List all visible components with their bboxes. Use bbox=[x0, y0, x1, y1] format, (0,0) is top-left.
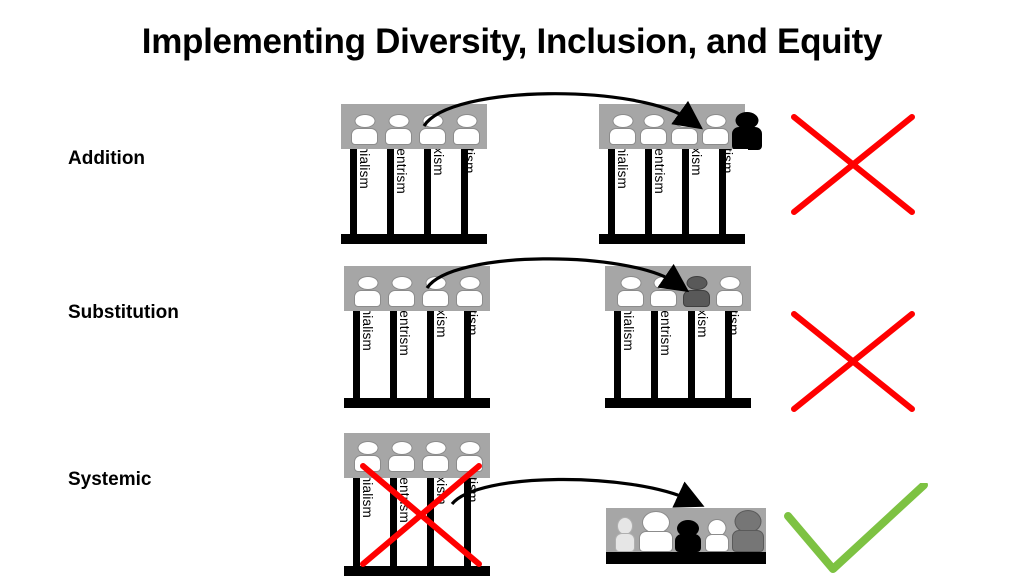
row-label-addition: Addition bbox=[68, 148, 145, 170]
figure-body bbox=[702, 128, 729, 145]
figure-head bbox=[391, 276, 412, 290]
pillar-label-sexism: Sexism bbox=[434, 478, 449, 505]
figure-white bbox=[422, 276, 449, 307]
figure-body bbox=[354, 290, 381, 307]
row-label-substitution: Substitution bbox=[68, 302, 179, 324]
pillar-bay: Colonialism bbox=[615, 149, 645, 234]
pillar-post bbox=[464, 478, 471, 566]
pillar-post bbox=[350, 149, 357, 234]
pillar-post bbox=[682, 149, 689, 234]
figure-white bbox=[456, 441, 483, 472]
pillar-bay: Sexism bbox=[431, 149, 461, 234]
pillar-label-sexism: Sexism bbox=[431, 149, 446, 176]
figure-body bbox=[615, 533, 635, 552]
pillar-post bbox=[719, 149, 726, 234]
pillar-label-colonialism: Colonialism bbox=[357, 149, 372, 189]
figure-head bbox=[643, 114, 664, 128]
pillar-post bbox=[353, 478, 360, 566]
figure-white bbox=[671, 114, 698, 145]
figure-head bbox=[388, 114, 409, 128]
figure-head bbox=[422, 114, 443, 128]
pillar-label-sexism: Sexism bbox=[689, 149, 704, 176]
figure-body bbox=[456, 290, 483, 307]
structure-base bbox=[344, 398, 490, 408]
figure-body bbox=[351, 128, 378, 145]
pillar-label-eurocentrism: Eurocentrism bbox=[652, 149, 667, 194]
pillar-post bbox=[608, 149, 615, 234]
addition-after-structure: Colonialism Eurocentrism Sexism Elitism bbox=[599, 104, 745, 244]
figure-body bbox=[732, 127, 762, 150]
figure-head bbox=[425, 276, 446, 290]
pillar-post bbox=[725, 311, 732, 398]
pillar-post bbox=[387, 149, 394, 234]
pillar-post bbox=[353, 311, 360, 398]
structure-base bbox=[344, 566, 490, 576]
pillar-group: Colonialism Eurocentrism Sexism Elitism bbox=[344, 478, 490, 566]
figure-white bbox=[650, 276, 677, 307]
figure-white bbox=[354, 441, 381, 472]
pillar-group: Colonialism Eurocentrism Sexism Elitism bbox=[599, 149, 745, 234]
figure-head bbox=[653, 276, 674, 290]
verdict-substitution bbox=[789, 309, 917, 414]
figure-body bbox=[385, 128, 412, 145]
pillar-bay: Eurocentrism bbox=[397, 478, 427, 566]
figure-body bbox=[422, 290, 449, 307]
figure-head bbox=[357, 441, 378, 455]
row-label-systemic: Systemic bbox=[68, 469, 151, 491]
figure-white bbox=[385, 114, 412, 145]
figure-body bbox=[388, 455, 415, 472]
pillar-post bbox=[651, 311, 658, 398]
figure-black bbox=[675, 520, 701, 552]
figure-head bbox=[459, 276, 480, 290]
pillar-label-colonialism: Colonialism bbox=[615, 149, 630, 189]
pillar-bay: Eurocentrism bbox=[397, 311, 427, 398]
verdict-addition bbox=[789, 112, 917, 217]
pillar-post bbox=[427, 478, 434, 566]
pillar-bay: Sexism bbox=[434, 311, 464, 398]
pillar-post bbox=[461, 149, 468, 234]
figure-body bbox=[640, 128, 667, 145]
figure-white bbox=[354, 276, 381, 307]
red-x-icon bbox=[789, 309, 917, 414]
figure-white bbox=[388, 276, 415, 307]
pillar-post bbox=[688, 311, 695, 398]
figure-body bbox=[675, 534, 701, 552]
figure-head bbox=[357, 276, 378, 290]
pillar-label-sexism: Sexism bbox=[434, 311, 449, 338]
red-x-icon bbox=[789, 112, 917, 217]
pillar-post bbox=[390, 311, 397, 398]
pillar-bay: Colonialism bbox=[360, 311, 390, 398]
pillar-bay: Colonialism bbox=[357, 149, 387, 234]
pillar-group: Colonialism Eurocentrism Sexism Elitism bbox=[341, 149, 487, 234]
addition-before-structure: Colonialism Eurocentrism Sexism Elitism bbox=[341, 104, 487, 244]
pillar-post bbox=[427, 311, 434, 398]
pillar-bay: Colonialism bbox=[360, 478, 390, 566]
figure-body bbox=[422, 455, 449, 472]
figure-body bbox=[354, 455, 381, 472]
figure-head bbox=[354, 114, 375, 128]
pillar-post bbox=[464, 311, 471, 398]
slide-canvas: Implementing Diversity, Inclusion, and E… bbox=[0, 0, 1024, 576]
figure-white bbox=[456, 276, 483, 307]
figure-head bbox=[425, 441, 446, 455]
figure-body bbox=[650, 290, 677, 307]
pillar-post bbox=[645, 149, 652, 234]
figure-body bbox=[453, 128, 480, 145]
figure-body bbox=[705, 534, 729, 552]
substitution-after-structure: Colonialism Eurocentrism Sexism Elitism bbox=[605, 266, 751, 408]
pillar-post bbox=[424, 149, 431, 234]
structure-base bbox=[341, 234, 487, 244]
pillar-label-colonialism: Colonialism bbox=[621, 311, 636, 351]
pillar-group: Colonialism Eurocentrism Sexism Elitism bbox=[344, 311, 490, 398]
figure-body bbox=[732, 530, 764, 552]
figure-white bbox=[351, 114, 378, 145]
figure-body bbox=[683, 290, 710, 307]
figure-body bbox=[388, 290, 415, 307]
figure-white bbox=[617, 276, 644, 307]
structure-base bbox=[599, 234, 745, 244]
pillar-label-colonialism: Colonialism bbox=[360, 478, 375, 518]
page-title: Implementing Diversity, Inclusion, and E… bbox=[0, 22, 1024, 62]
pillar-bay: Eurocentrism bbox=[658, 311, 688, 398]
figure-head bbox=[719, 276, 740, 290]
figure-white bbox=[453, 114, 480, 145]
figure-white-large bbox=[639, 511, 673, 552]
figure-head bbox=[686, 276, 707, 290]
pillar-bay: Sexism bbox=[689, 149, 719, 234]
figure-white bbox=[422, 441, 449, 472]
figure-head bbox=[674, 114, 695, 128]
pillar-bay: Sexism bbox=[434, 478, 464, 566]
pillar-bay: Sexism bbox=[695, 311, 725, 398]
pillar-bay: Colonialism bbox=[621, 311, 651, 398]
figure-body bbox=[617, 290, 644, 307]
figure-head bbox=[620, 276, 641, 290]
pillar-label-eurocentrism: Eurocentrism bbox=[397, 478, 412, 523]
figure-head bbox=[612, 114, 633, 128]
figure-body bbox=[419, 128, 446, 145]
figure-head bbox=[391, 441, 412, 455]
figure-white bbox=[702, 114, 729, 145]
green-check-icon bbox=[783, 483, 929, 575]
figure-white bbox=[609, 114, 636, 145]
figure-body bbox=[671, 128, 698, 145]
figure-white bbox=[419, 114, 446, 145]
pillar-label-eurocentrism: Eurocentrism bbox=[397, 311, 412, 356]
figure-body bbox=[639, 531, 673, 552]
pillar-label-eurocentrism: Eurocentrism bbox=[394, 149, 409, 194]
substitution-before-structure: Colonialism Eurocentrism Sexism Elitism bbox=[344, 266, 490, 408]
pillar-group: Colonialism Eurocentrism Sexism Elitism bbox=[605, 311, 751, 398]
figure-white bbox=[716, 276, 743, 307]
pillar-post bbox=[614, 311, 621, 398]
systemic-before-structure: Colonialism Eurocentrism Sexism Elitism bbox=[344, 433, 490, 576]
systemic-after-ground-platform bbox=[606, 508, 766, 564]
figure-body bbox=[609, 128, 636, 145]
figure-white bbox=[640, 114, 667, 145]
structure-base bbox=[605, 398, 751, 408]
figure-black-added bbox=[732, 112, 762, 150]
figure-body bbox=[456, 455, 483, 472]
figure-head bbox=[705, 114, 726, 128]
pillar-label-colonialism: Colonialism bbox=[360, 311, 375, 351]
figure-dark-substituted bbox=[683, 276, 710, 307]
figure-head bbox=[456, 114, 477, 128]
pillar-label-eurocentrism: Eurocentrism bbox=[658, 311, 673, 356]
figure-gray-large bbox=[732, 510, 764, 552]
pillar-label-sexism: Sexism bbox=[695, 311, 710, 338]
figure-head bbox=[459, 441, 480, 455]
pillar-post bbox=[390, 478, 397, 566]
pillar-bay: Eurocentrism bbox=[652, 149, 682, 234]
figure-light-small bbox=[615, 517, 635, 552]
pillar-bay: Eurocentrism bbox=[394, 149, 424, 234]
figure-white-small bbox=[705, 519, 729, 552]
verdict-systemic bbox=[783, 483, 929, 575]
figure-white bbox=[388, 441, 415, 472]
ground-floor-bar bbox=[606, 552, 766, 564]
figure-body bbox=[716, 290, 743, 307]
